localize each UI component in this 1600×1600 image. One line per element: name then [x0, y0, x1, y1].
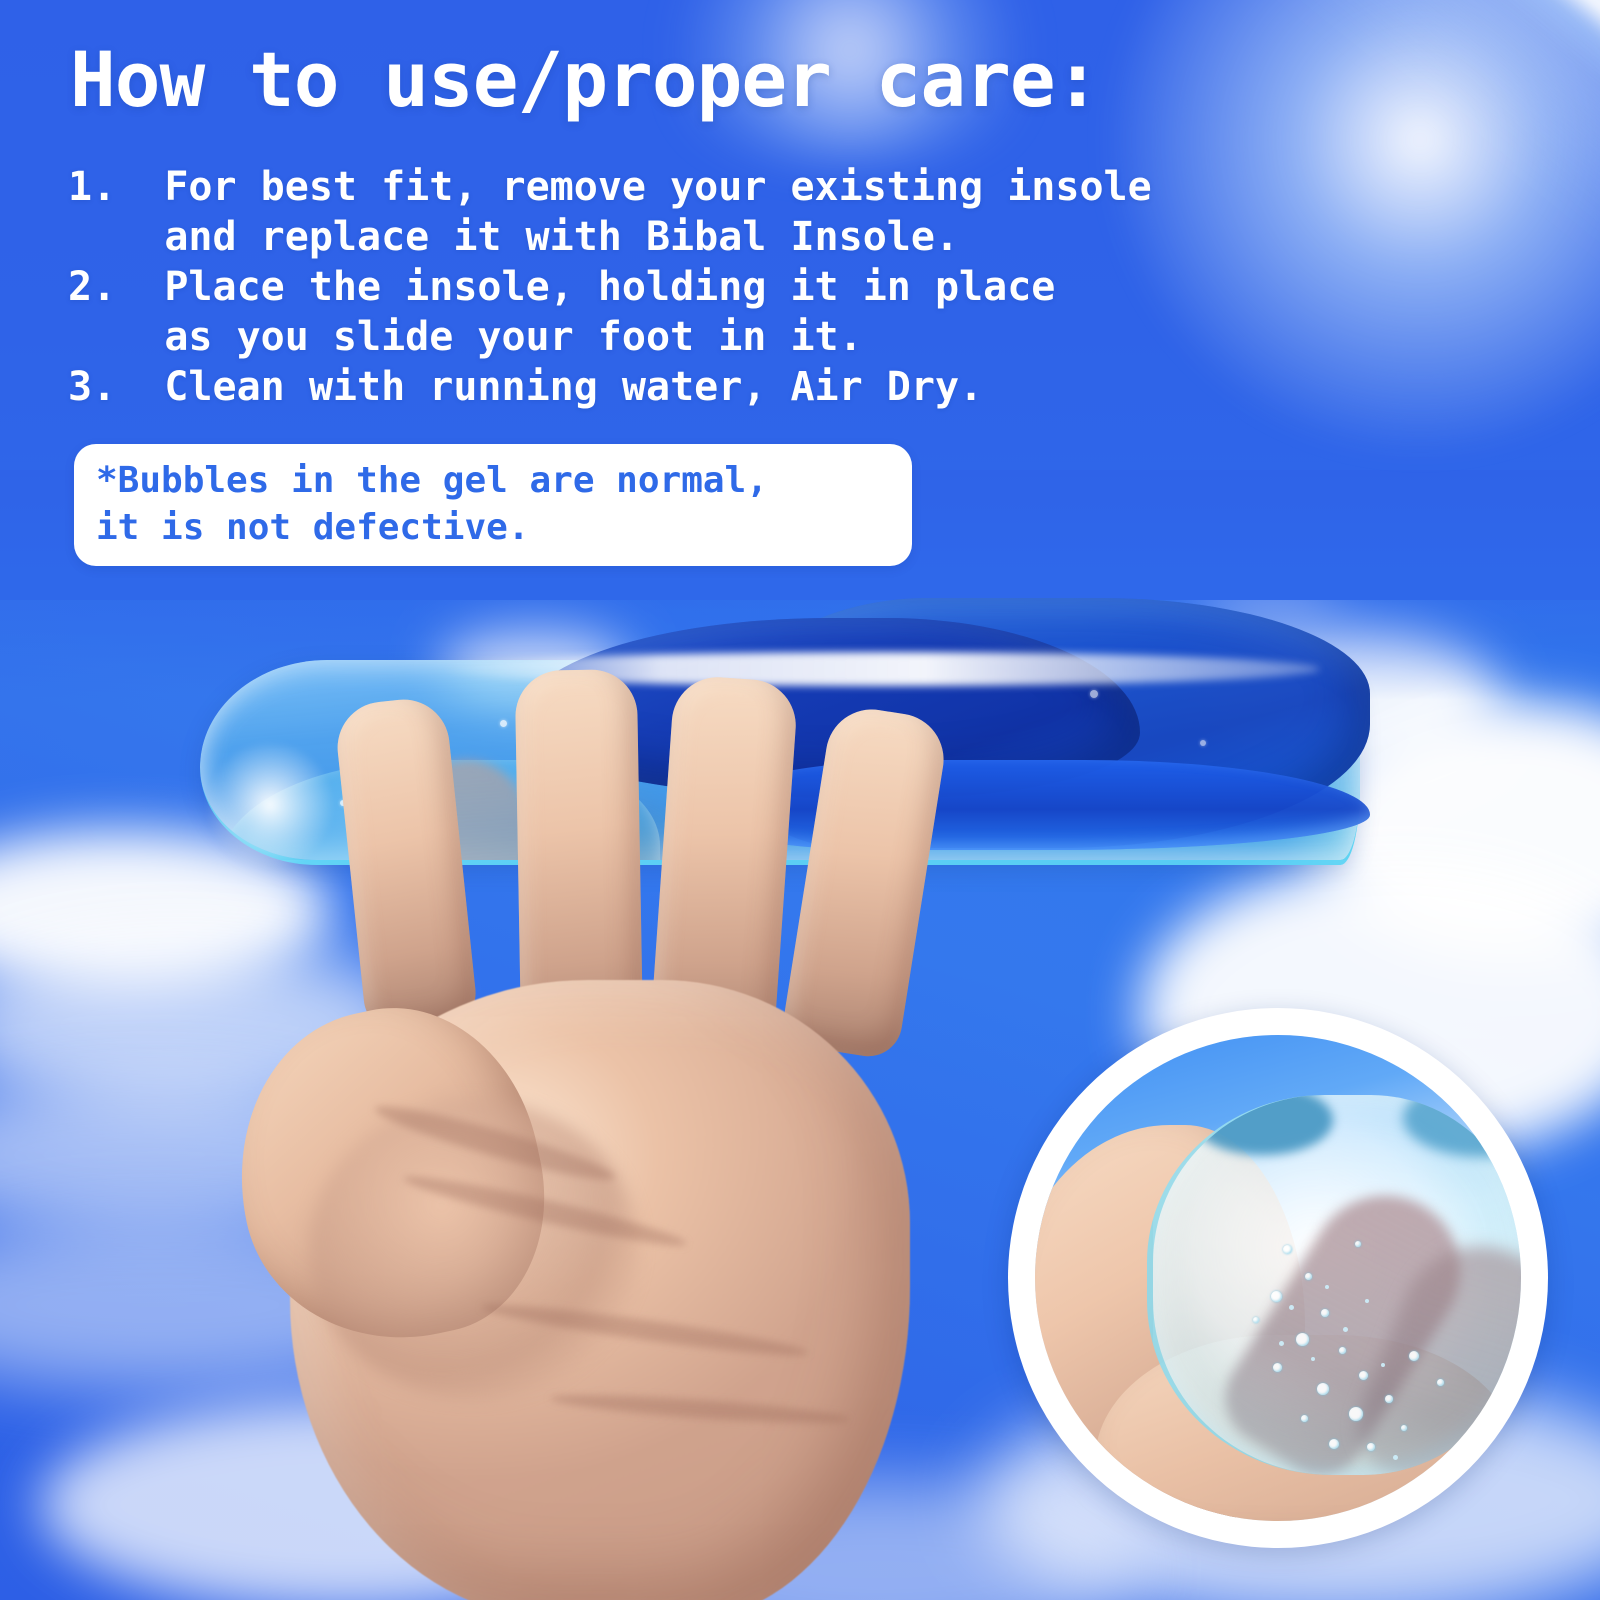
gel-bubble [1401, 1425, 1407, 1431]
inset-gel-insole [1147, 1095, 1521, 1475]
closeup-inset-circle [1008, 1008, 1548, 1548]
step-text: Place the insole, holding it in place [164, 264, 1055, 310]
gel-bubble [1437, 1379, 1444, 1386]
step-text: Clean with running water, Air Dry. [164, 364, 983, 410]
gel-bubble [1301, 1415, 1308, 1422]
gel-bubble-small [1311, 1357, 1315, 1361]
gel-bubble-small [1279, 1341, 1284, 1346]
gel-bubble [1283, 1245, 1292, 1254]
gel-bubble [1200, 740, 1206, 746]
gel-bubble [1359, 1371, 1368, 1380]
closeup-inset-photo [1035, 1035, 1521, 1521]
list-item: 2. Place the insole, holding it in place [68, 262, 1152, 312]
gel-bubble-small [1393, 1455, 1398, 1460]
note-line-2: it is not defective. [96, 505, 890, 552]
gel-bubble [1321, 1309, 1329, 1317]
gel-bubble [500, 720, 507, 727]
instruction-list: 1. For best fit, remove your existing in… [68, 162, 1152, 412]
step-number: 2. [68, 264, 116, 310]
gel-bubble-small [1325, 1285, 1329, 1289]
inset-gel-dark-edge [1403, 1095, 1521, 1157]
gel-bubble [1385, 1395, 1393, 1403]
gel-bubble-small [1365, 1299, 1369, 1303]
gel-bubble [1271, 1291, 1282, 1302]
gel-bubble [1349, 1407, 1363, 1421]
gel-bubble [1296, 1333, 1309, 1346]
gel-bubble [1090, 690, 1098, 698]
gel-bubble [1409, 1351, 1419, 1361]
list-item: 1. For best fit, remove your existing in… [68, 162, 1152, 212]
infographic-canvas: How to use/proper care: 1. For best fit,… [0, 0, 1600, 1600]
gel-bubble [1329, 1439, 1339, 1449]
step-text-cont: as you slide your foot in it. [164, 314, 862, 360]
step-text: For best fit, remove your existing insol… [164, 164, 1151, 210]
gel-bubble [1367, 1443, 1375, 1451]
gel-bubble-small [1289, 1305, 1294, 1310]
hand-holding-insole [250, 800, 1090, 1600]
list-item: 3. Clean with running water, Air Dry. [68, 362, 1152, 412]
list-item-continuation: and replace it with Bibal Insole. [68, 212, 1152, 262]
gel-bubble [1273, 1363, 1282, 1372]
gel-bubble [1317, 1383, 1329, 1395]
note-line-1: *Bubbles in the gel are normal, [96, 458, 890, 505]
step-number: 1. [68, 164, 116, 210]
inset-gel-dark-edge [1193, 1095, 1333, 1155]
gel-bubble [1253, 1317, 1259, 1323]
page-title: How to use/proper care: [70, 42, 1099, 118]
list-item-continuation: as you slide your foot in it. [68, 312, 1152, 362]
step-number: 3. [68, 364, 116, 410]
gel-bubble-small [1381, 1363, 1385, 1367]
gel-bubble [1355, 1241, 1361, 1247]
gel-bubble [1305, 1273, 1312, 1280]
gel-bubble-small [1343, 1327, 1348, 1332]
step-text-cont: and replace it with Bibal Insole. [164, 214, 959, 260]
bubbles-note-callout: *Bubbles in the gel are normal, it is no… [74, 444, 912, 566]
gel-bubble [1339, 1347, 1346, 1354]
